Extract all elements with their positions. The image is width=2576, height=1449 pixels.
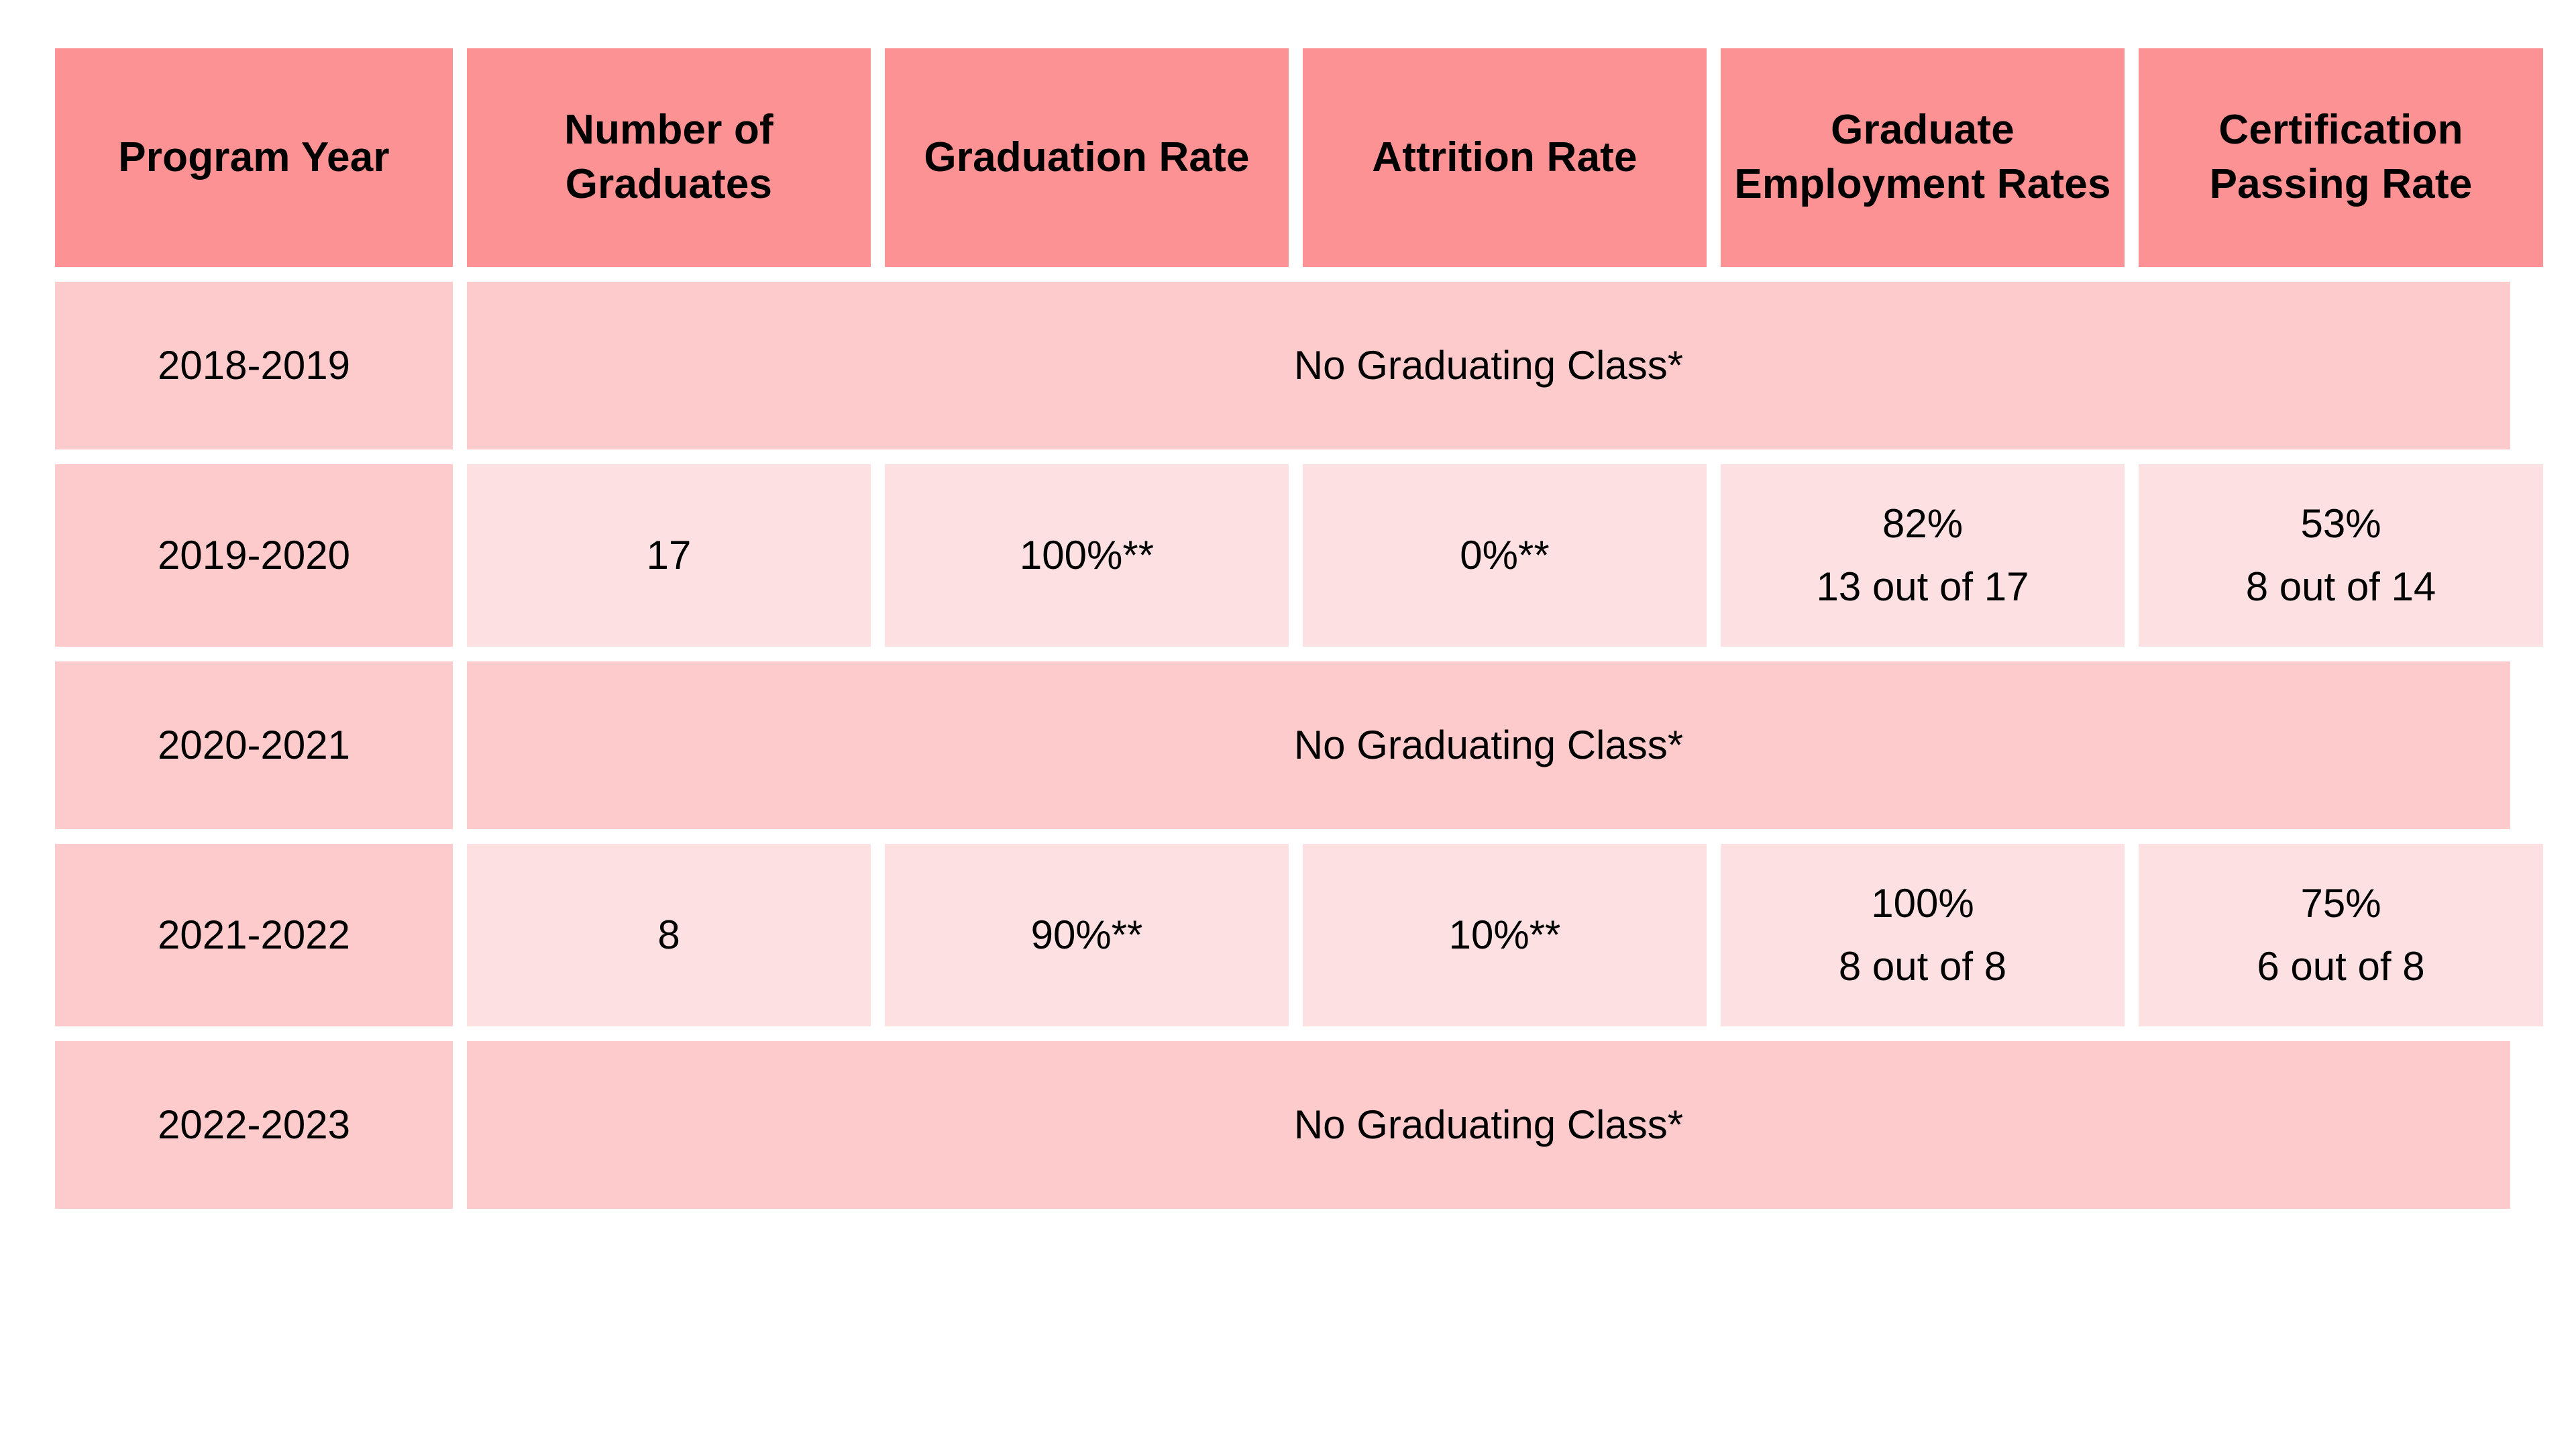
no-graduating-class-label: No Graduating Class* bbox=[1294, 1099, 1683, 1151]
column-header-program-year: Program Year bbox=[55, 48, 453, 267]
cell-attrition-rate: 0%** bbox=[1303, 464, 1707, 647]
cell-program-year: 2019-2020 bbox=[55, 464, 453, 647]
program-year-value: 2019-2020 bbox=[158, 529, 350, 582]
cell-program-year: 2021-2022 bbox=[55, 844, 453, 1026]
cell-program-year: 2018-2019 bbox=[55, 282, 453, 449]
cell-program-year: 2022-2023 bbox=[55, 1041, 453, 1209]
cell-no-graduating-class: No Graduating Class* bbox=[467, 661, 2510, 829]
certification-passing-rate-value: 53% bbox=[2300, 498, 2381, 550]
cell-graduation-rate: 90%** bbox=[885, 844, 1289, 1026]
program-year-value: 2020-2021 bbox=[158, 719, 350, 771]
table-row: 2022-2023 No Graduating Class* bbox=[55, 1041, 2510, 1209]
no-graduating-class-label: No Graduating Class* bbox=[1294, 339, 1683, 392]
cell-attrition-rate: 10%** bbox=[1303, 844, 1707, 1026]
table-row: 2021-2022 8 90%** 10%** 100% 8 out of 8 … bbox=[55, 844, 2510, 1026]
cell-no-graduating-class: No Graduating Class* bbox=[467, 282, 2510, 449]
column-header-label: Graduation Rate bbox=[924, 131, 1249, 185]
number-of-graduates-value: 8 bbox=[657, 909, 680, 961]
attrition-rate-value: 10%** bbox=[1449, 909, 1561, 961]
graduate-employment-rate-detail: 13 out of 17 bbox=[1817, 561, 2029, 613]
certification-passing-rate-value: 75% bbox=[2300, 877, 2381, 930]
column-header-graduate-employment-rates: Graduate Employment Rates bbox=[1721, 48, 2125, 267]
graduate-employment-rate-value: 82% bbox=[1882, 498, 1963, 550]
number-of-graduates-value: 17 bbox=[647, 529, 692, 582]
table-row: 2018-2019 No Graduating Class* bbox=[55, 282, 2510, 449]
table-row: 2019-2020 17 100%** 0%** 82% 13 out of 1… bbox=[55, 464, 2510, 647]
cell-graduation-rate: 100%** bbox=[885, 464, 1289, 647]
column-header-attrition-rate: Attrition Rate bbox=[1303, 48, 1707, 267]
certification-passing-rate-detail: 8 out of 14 bbox=[2246, 561, 2436, 613]
cell-program-year: 2020-2021 bbox=[55, 661, 453, 829]
column-header-label: Program Year bbox=[118, 131, 390, 185]
table-header-row: Program Year Number of Graduates Graduat… bbox=[55, 48, 2510, 267]
cell-certification-passing-rate: 53% 8 out of 14 bbox=[2139, 464, 2543, 647]
graduation-rate-value: 90%** bbox=[1031, 909, 1143, 961]
program-year-value: 2018-2019 bbox=[158, 339, 350, 392]
column-header-label: Number of Graduates bbox=[474, 103, 864, 211]
cell-certification-passing-rate: 75% 6 out of 8 bbox=[2139, 844, 2543, 1026]
program-outcomes-table: Program Year Number of Graduates Graduat… bbox=[55, 48, 2510, 1209]
column-header-label: Certification Passing Rate bbox=[2145, 103, 2536, 211]
table-row: 2020-2021 No Graduating Class* bbox=[55, 661, 2510, 829]
program-year-value: 2021-2022 bbox=[158, 909, 350, 961]
cell-no-graduating-class: No Graduating Class* bbox=[467, 1041, 2510, 1209]
graduate-employment-rate-detail: 8 out of 8 bbox=[1839, 941, 2006, 993]
program-year-value: 2022-2023 bbox=[158, 1099, 350, 1151]
column-header-label: Attrition Rate bbox=[1372, 131, 1637, 185]
column-header-label: Graduate Employment Rates bbox=[1727, 103, 2118, 211]
column-header-certification-passing-rate: Certification Passing Rate bbox=[2139, 48, 2543, 267]
cell-number-of-graduates: 8 bbox=[467, 844, 871, 1026]
attrition-rate-value: 0%** bbox=[1460, 529, 1549, 582]
cell-number-of-graduates: 17 bbox=[467, 464, 871, 647]
graduate-employment-rate-value: 100% bbox=[1871, 877, 1974, 930]
column-header-number-of-graduates: Number of Graduates bbox=[467, 48, 871, 267]
certification-passing-rate-detail: 6 out of 8 bbox=[2257, 941, 2424, 993]
graduation-rate-value: 100%** bbox=[1020, 529, 1154, 582]
no-graduating-class-label: No Graduating Class* bbox=[1294, 719, 1683, 771]
column-header-graduation-rate: Graduation Rate bbox=[885, 48, 1289, 267]
cell-graduate-employment-rate: 82% 13 out of 17 bbox=[1721, 464, 2125, 647]
cell-graduate-employment-rate: 100% 8 out of 8 bbox=[1721, 844, 2125, 1026]
